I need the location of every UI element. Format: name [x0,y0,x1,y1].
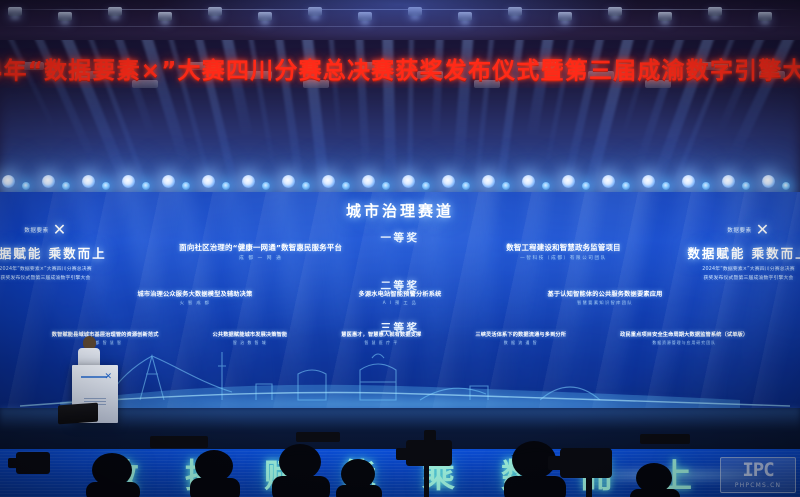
stage-par-light-small [222,182,230,190]
ceiling-spotlight-icon [358,12,372,21]
city-skyline-graphic [0,322,800,408]
stage-par-light [602,175,615,188]
stage-par-light [42,175,55,188]
stage-par-light-small [422,182,430,190]
strip-character: 数 [106,449,141,497]
award-project-name: 城市治理公众服务大数据模型及辅助决策 [137,289,252,298]
award-project-name: 数智工程建设和智慧政务监管项目 [506,242,621,253]
bottom-led-strip: 数据赋能乘数而上 [0,449,800,497]
prize-entry-row: 面向社区治理的“健康一网通”数智惠民服务平台成 都 一 网 通数智工程建设和智慧… [0,242,800,261]
stage-par-light [122,175,135,188]
ceiling-spotlight-icon [408,7,422,16]
award-team-name: A I 预 工 品 [358,300,441,306]
ceiling-spotlight-icon [58,12,72,21]
stage-par-light [202,175,215,188]
watermark-logo: IPC [742,461,773,480]
track-title: 城市治理赛道 [0,200,800,221]
stage-par-light-small [742,182,750,190]
ceiling-spotlight-icon [508,7,522,16]
award-entry: 多源水电站智能预警分析系统A I 预 工 品 [351,289,448,306]
venue-photo: 24年“数据要素×”大赛四川分赛总决赛获奖发布仪式暨第三届成渝数字引擎大会 数据… [0,0,800,497]
stage-par-light [2,175,15,188]
stage-par-light [322,175,335,188]
award-entry: 基于认知智能体的公共服务数据要素应用智慧要素知识智库团队 [541,289,670,306]
stage-par-light [362,175,375,188]
award-team-name: 火 智 成 都 [137,300,252,306]
stage-par-light-small [62,182,70,190]
podium-logo-icon: ✕ [104,372,112,382]
strip-character: 乘 [422,449,457,497]
award-project-name: 基于认知智能体的公共服务数据要素应用 [548,289,663,298]
stage-par-light-small [302,182,310,190]
ceiling-spotlight-icon [208,7,222,16]
ceiling-spotlight-icon [558,12,572,21]
strip-character: 据 [185,449,220,497]
prize-entry-row: 城市治理公众服务大数据模型及辅助决策火 智 成 都多源水电站智能预警分析系统A … [0,289,800,306]
stage-par-light [642,175,655,188]
ceiling-spotlight-icon [708,7,722,16]
award-team-name: 一智科技（成都）有限公司团队 [506,255,621,261]
banner-title-text: 24年“数据要素×”大赛四川分赛总决赛获奖发布仪式暨第三届成渝数字引擎大会 [0,51,800,85]
stage-par-light [722,175,735,188]
strip-character: 能 [343,449,378,497]
stage-par-light-small [462,182,470,190]
stage-par-light [522,175,535,188]
stage-par-light-small [142,182,150,190]
stage-par-light-small [542,182,550,190]
award-entry: 城市治理公众服务大数据模型及辅助决策火 智 成 都 [130,289,259,306]
stage-par-light [482,175,495,188]
stage-par-light-small [622,182,630,190]
strip-character: 赋 [264,449,299,497]
event-banner: 24年“数据要素×”大赛四川分赛总决赛获奖发布仪式暨第三届成渝数字引擎大会 [0,48,800,88]
light-haze [0,80,800,200]
stage-par-light-small [262,182,270,190]
watermark-site: PHPCMS.CN [735,482,781,489]
ceiling-spotlight-icon [8,7,22,16]
stage-par-light-small [102,182,110,190]
stage-par-light-small [702,182,710,190]
strip-slogan-text: 数据赋能乘数而上 [0,449,800,497]
strip-character: 上 [659,449,694,497]
award-team-name: 智慧要素知识智库团队 [548,300,663,306]
floor-reflection [0,408,800,430]
award-entry: 面向社区治理的“健康一网通”数智惠民服务平台成 都 一 网 通 [172,242,349,261]
stage-par-light-small [382,182,390,190]
ceiling-spotlight-icon [308,7,322,16]
ceiling-spotlight-icon [258,12,272,21]
stage-par-light [442,175,455,188]
stage-par-light [162,175,175,188]
ceiling-spotlight-icon [108,7,122,16]
stage-par-light-small [782,182,790,190]
left-title-line1: 2024年“数据要素×”大赛四川分赛总决赛 [0,266,133,275]
stage-par-light-small [502,182,510,190]
stage-par-light-small [662,182,670,190]
stage-par-light-small [342,182,350,190]
stage-par-light [402,175,415,188]
stage-par-light [682,175,695,188]
main-led-screen: 数据要素 ✕ 数据赋能 乘数而上 2024年“数据要素×”大赛四川分赛总决赛 获… [0,192,800,414]
ceiling-spotlight-icon [758,12,772,21]
award-project-name: 面向社区治理的“健康一网通”数智惠民服务平台 [179,242,342,253]
stage-par-light [282,175,295,188]
award-project-name: 多源水电站智能预警分析系统 [358,289,441,298]
ceiling-spotlight-icon [608,7,622,16]
strip-character: 数 [501,449,536,497]
stage-monitor-speaker [58,403,98,425]
stage-par-light [242,175,255,188]
award-team-name: 成 都 一 网 通 [179,255,342,261]
award-entry: 数智工程建设和智慧政务监管项目一智科技（成都）有限公司团队 [499,242,628,261]
right-title-line1: 2024年“数据要素×”大赛四川分赛总决赛 [661,266,800,275]
stage-par-light [82,175,95,188]
stage-par-light [562,175,575,188]
stage-par-light-small [182,182,190,190]
strip-character: 而 [580,449,615,497]
stage-par-light-small [582,182,590,190]
ceiling-spotlight-icon [158,12,172,21]
stage-par-light [762,175,775,188]
ceiling-spotlight-icon [458,12,472,21]
stage-par-light-small [22,182,30,190]
ceiling-spotlight-icon [658,12,672,21]
site-watermark: IPC PHPCMS.CN [720,457,796,493]
